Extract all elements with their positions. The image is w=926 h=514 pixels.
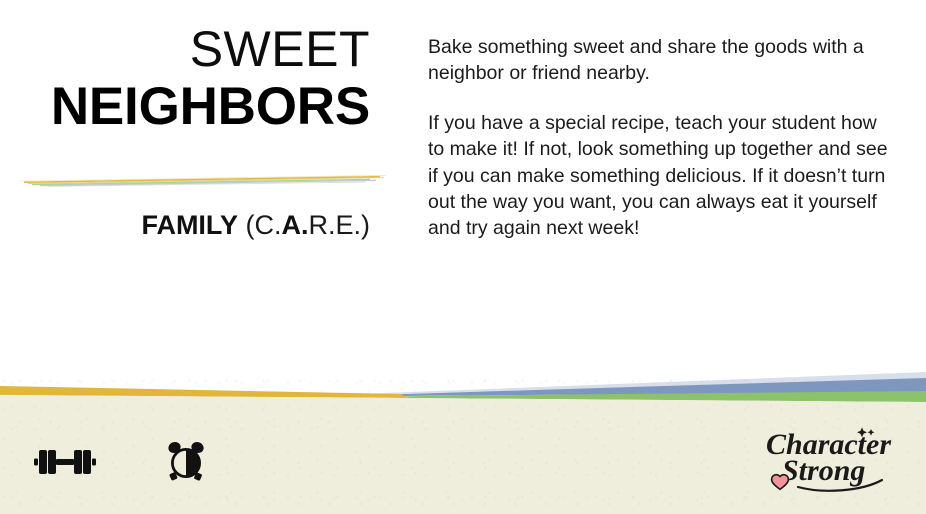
alarm-clock-icon xyxy=(164,440,208,489)
pillar-family-label: FAMILY xyxy=(141,210,238,240)
characterstrong-logo: Character Strong xyxy=(758,418,910,494)
pillar-emphasis-letter: A. xyxy=(281,210,308,240)
title-block: SWEET NEIGHBORS xyxy=(0,24,392,135)
body-copy: Bake something sweet and share the goods… xyxy=(428,34,896,241)
body-paragraph-2: If you have a special recipe, teach your… xyxy=(428,110,896,241)
slide-canvas: SWEET NEIGHBORS FAMILY (C.A.R.E.) Bake s… xyxy=(0,0,926,514)
heart-icon xyxy=(772,475,789,490)
page-title-line-2: NEIGHBORS xyxy=(0,79,370,135)
pillar-close-paren: R.E.) xyxy=(308,210,370,240)
pillar-subtitle: FAMILY (C.A.R.E.) xyxy=(0,210,392,241)
logo-word-strong: Strong xyxy=(782,454,865,487)
multicolor-divider xyxy=(18,170,388,190)
body-paragraph-1: Bake something sweet and share the goods… xyxy=(428,34,896,86)
pillar-open-paren: (C. xyxy=(245,210,281,240)
page-title-line-1: SWEET xyxy=(0,24,370,75)
icon-row xyxy=(34,440,208,489)
dumbbell-icon xyxy=(34,442,96,487)
